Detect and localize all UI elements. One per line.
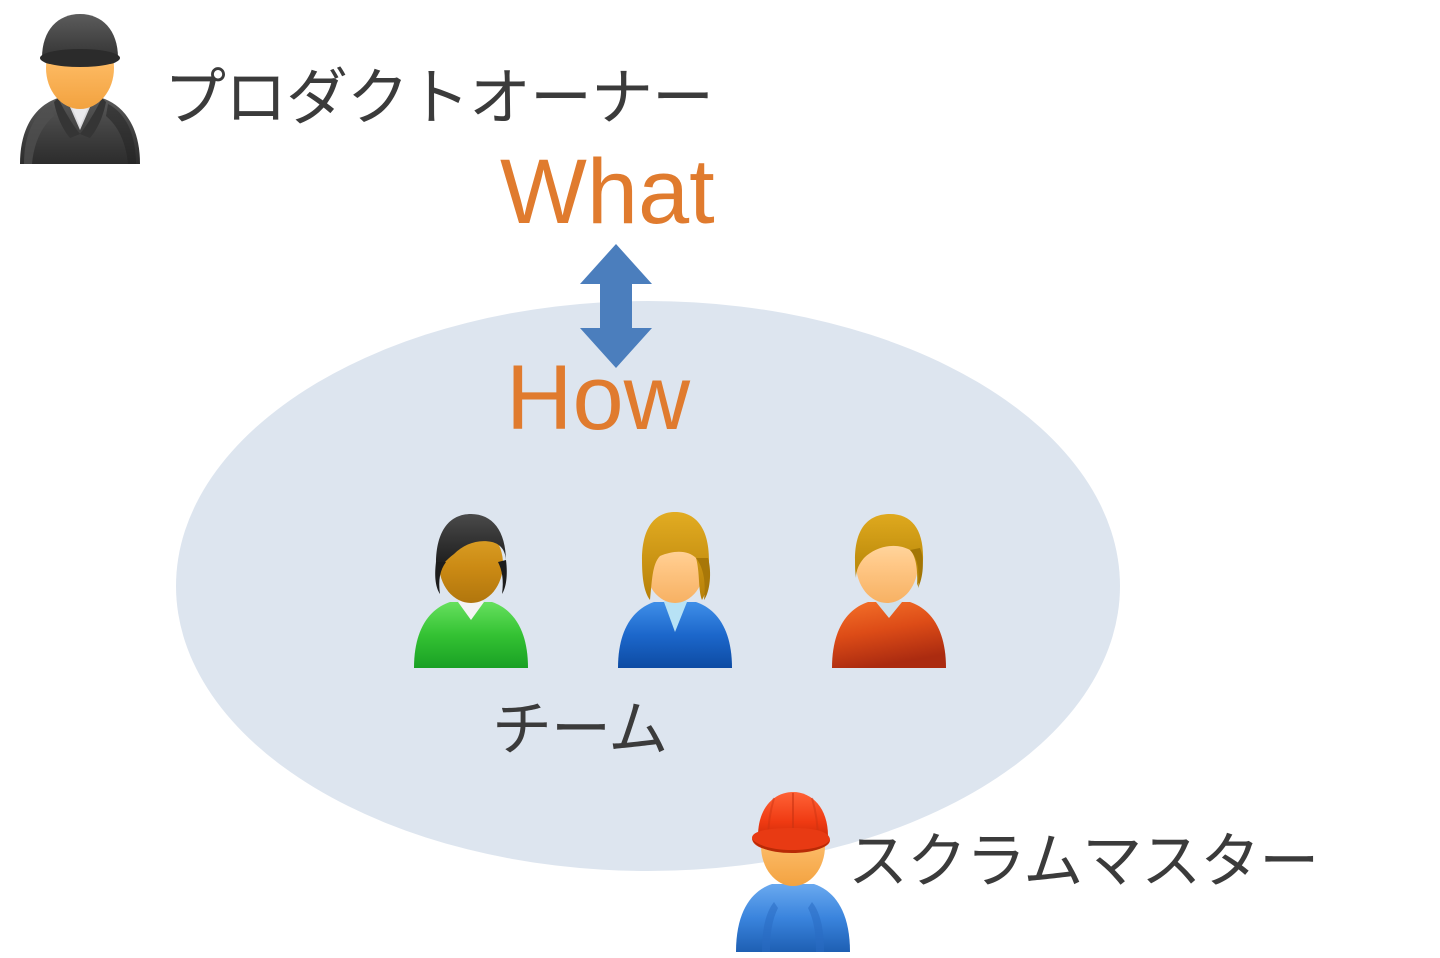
- how-label: How: [506, 352, 690, 444]
- team-member-3-icon: [826, 502, 952, 670]
- what-label: What: [500, 146, 715, 238]
- team-member-2-icon: [612, 502, 738, 670]
- team-member-1-icon: [408, 502, 534, 670]
- diagram-canvas: プロダクトオーナー What How: [0, 0, 1440, 958]
- scrum-master-icon: [728, 782, 858, 954]
- team-label: チーム: [492, 700, 667, 760]
- scrum-master-label: スクラムマスター: [848, 832, 1318, 892]
- product-owner-icon: [12, 6, 148, 166]
- product-owner-label: プロダクトオーナー: [164, 68, 713, 130]
